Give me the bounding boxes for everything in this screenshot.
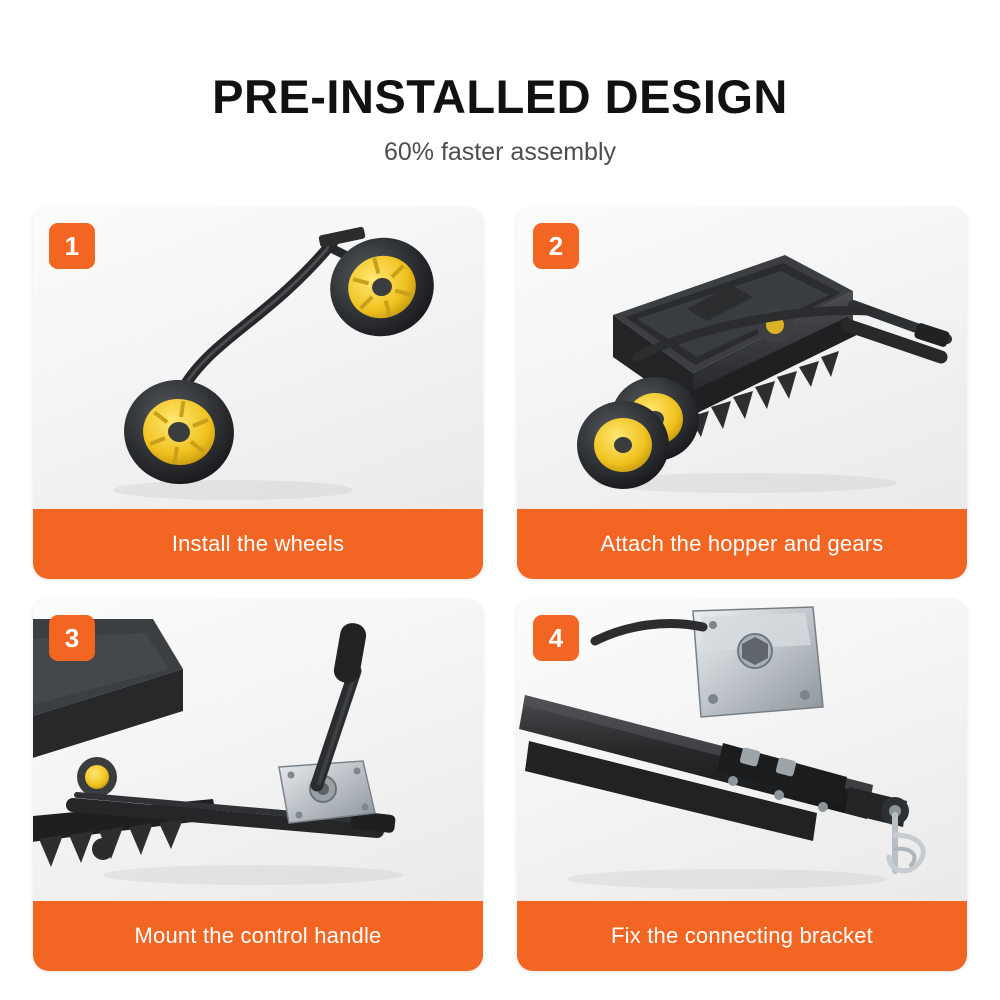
step-card-4: 4 Fix the connecting bracket xyxy=(517,599,967,971)
poster-header: PRE-INSTALLED DESIGN 60% faster assembly xyxy=(0,0,1000,167)
step-card-2: 2 Attach the hopper and gears xyxy=(517,207,967,579)
step-caption-bar-1: Install the wheels xyxy=(33,509,483,579)
step-photo-3 xyxy=(33,599,483,901)
step-badge-4: 4 xyxy=(533,615,579,661)
step-caption-bar-3: Mount the control handle xyxy=(33,901,483,971)
step-card-1: 1 Install the wheels xyxy=(33,207,483,579)
step-caption-4: Fix the connecting bracket xyxy=(611,923,873,949)
step-badge-1: 1 xyxy=(49,223,95,269)
step-badge-2: 2 xyxy=(533,223,579,269)
step-card-3: 3 Mount the control handle xyxy=(33,599,483,971)
step-photo-1 xyxy=(33,207,483,509)
step-badge-3: 3 xyxy=(49,615,95,661)
step-caption-bar-2: Attach the hopper and gears xyxy=(517,509,967,579)
wheel-and-axle-bar-illustration xyxy=(33,207,483,509)
page-subtitle: 60% faster assembly xyxy=(0,138,1000,167)
step-caption-2: Attach the hopper and gears xyxy=(600,531,883,557)
hopper-with-tines-and-wheels-illustration xyxy=(517,207,967,509)
step-caption-1: Install the wheels xyxy=(172,531,344,557)
page-title: PRE-INSTALLED DESIGN xyxy=(0,72,1000,121)
step-caption-3: Mount the control handle xyxy=(135,923,382,949)
step-photo-2 xyxy=(517,207,967,509)
step-photo-4 xyxy=(517,599,967,901)
steps-grid: 1 Install the wheels xyxy=(33,207,967,971)
assembly-instruction-poster: PRE-INSTALLED DESIGN 60% faster assembly xyxy=(0,0,1000,1000)
control-handle-on-bracket-illustration xyxy=(33,599,483,901)
connecting-bracket-with-pin-illustration xyxy=(517,599,967,901)
step-caption-bar-4: Fix the connecting bracket xyxy=(517,901,967,971)
